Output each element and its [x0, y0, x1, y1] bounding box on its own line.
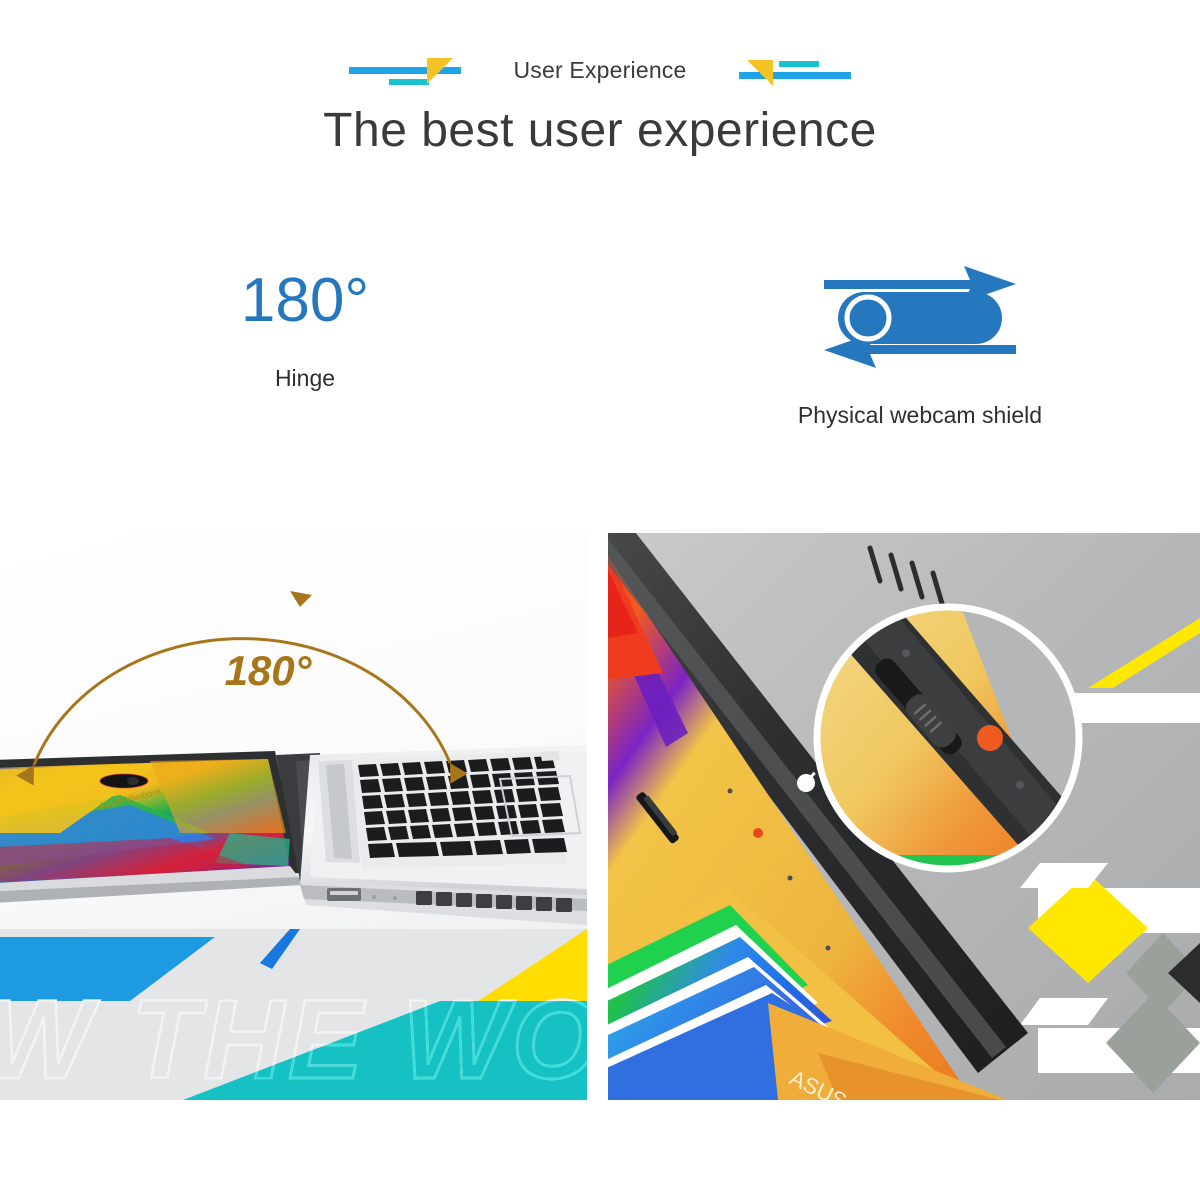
svg-text:180°: 180°	[225, 647, 313, 694]
laptop-180-degree-hinge-photo: W THE WO W THE WO	[0, 533, 587, 1100]
feature-hinge: 180° Hinge	[120, 270, 490, 392]
arrow-lines-left-icon	[341, 50, 471, 90]
deco-left-triangle	[427, 58, 453, 84]
webcam-shield-label: Physical webcam shield	[715, 402, 1125, 429]
deco-right-short-bar	[779, 61, 819, 67]
eyebrow-label: User Experience	[471, 57, 728, 84]
webcam-shield-closeup-photo: ASUS	[608, 533, 1200, 1100]
page-title: The best user experience	[0, 103, 1200, 158]
deco-right-triangle	[747, 60, 773, 86]
feature-webcam-shield: Physical webcam shield	[715, 258, 1125, 429]
deco-left-short-bar	[389, 79, 429, 85]
hinge-label: Hinge	[120, 365, 490, 392]
arrow-lines-right-icon	[729, 50, 859, 90]
webcam-shield-toggle-icon	[820, 258, 1020, 376]
hinge-value: 180°	[120, 270, 490, 332]
eyebrow-row: User Experience	[0, 50, 1200, 90]
